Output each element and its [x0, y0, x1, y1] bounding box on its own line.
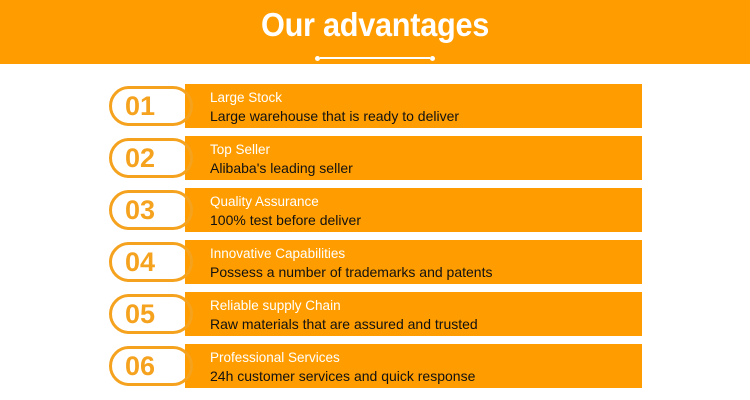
list-item: 03 Quality Assurance 100% test before de…	[108, 188, 642, 232]
list-item: 04 Innovative Capabilities Possess a num…	[108, 240, 642, 284]
item-text: Innovative Capabilities Possess a number…	[185, 240, 642, 284]
number-badge: 02	[109, 138, 193, 178]
number-badge: 05	[109, 294, 193, 334]
badge-number: 02	[125, 145, 155, 172]
badge-plate: 02	[108, 136, 185, 180]
advantages-banner: Our advantages 01 Large Stock Large ware…	[0, 0, 750, 400]
item-title: Innovative Capabilities	[210, 245, 642, 263]
item-title: Quality Assurance	[210, 193, 642, 211]
badge-plate: 05	[108, 292, 185, 336]
item-description: 100% test before deliver	[210, 211, 642, 230]
ornament-line	[320, 57, 430, 59]
badge-number: 05	[125, 301, 155, 328]
item-title: Top Seller	[210, 141, 642, 159]
badge-plate: 04	[108, 240, 185, 284]
badge-number: 06	[125, 353, 155, 380]
item-text: Top Seller Alibaba's leading seller	[185, 136, 642, 180]
list-item: 05 Reliable supply Chain Raw materials t…	[108, 292, 642, 336]
item-title: Professional Services	[210, 349, 642, 367]
list-item: 02 Top Seller Alibaba's leading seller	[108, 136, 642, 180]
badge-number: 01	[125, 93, 155, 120]
item-description: 24h customer services and quick response	[210, 367, 642, 386]
list-item: 06 Professional Services 24h customer se…	[108, 344, 642, 388]
item-description: Raw materials that are assured and trust…	[210, 315, 642, 334]
list-item: 01 Large Stock Large warehouse that is r…	[108, 84, 642, 128]
item-description: Alibaba's leading seller	[210, 159, 642, 178]
number-badge: 04	[109, 242, 193, 282]
item-text: Reliable supply Chain Raw materials that…	[185, 292, 642, 336]
item-text: Large Stock Large warehouse that is read…	[185, 84, 642, 128]
divider-ornament	[315, 54, 435, 62]
badge-number: 04	[125, 249, 155, 276]
item-text: Quality Assurance 100% test before deliv…	[185, 188, 642, 232]
badge-plate: 01	[108, 84, 185, 128]
badge-plate: 06	[108, 344, 185, 388]
page-title: Our advantages	[26, 5, 724, 45]
number-badge: 01	[109, 86, 193, 126]
number-badge: 06	[109, 346, 193, 386]
ornament-dot-right	[430, 56, 435, 61]
number-badge: 03	[109, 190, 193, 230]
item-text: Professional Services 24h customer servi…	[185, 344, 642, 388]
header-band: Our advantages	[0, 0, 750, 64]
advantages-list: 01 Large Stock Large warehouse that is r…	[108, 84, 642, 388]
badge-plate: 03	[108, 188, 185, 232]
item-description: Large warehouse that is ready to deliver	[210, 107, 642, 126]
item-title: Large Stock	[210, 89, 642, 107]
badge-number: 03	[125, 197, 155, 224]
item-description: Possess a number of trademarks and paten…	[210, 263, 642, 282]
item-title: Reliable supply Chain	[210, 297, 642, 315]
